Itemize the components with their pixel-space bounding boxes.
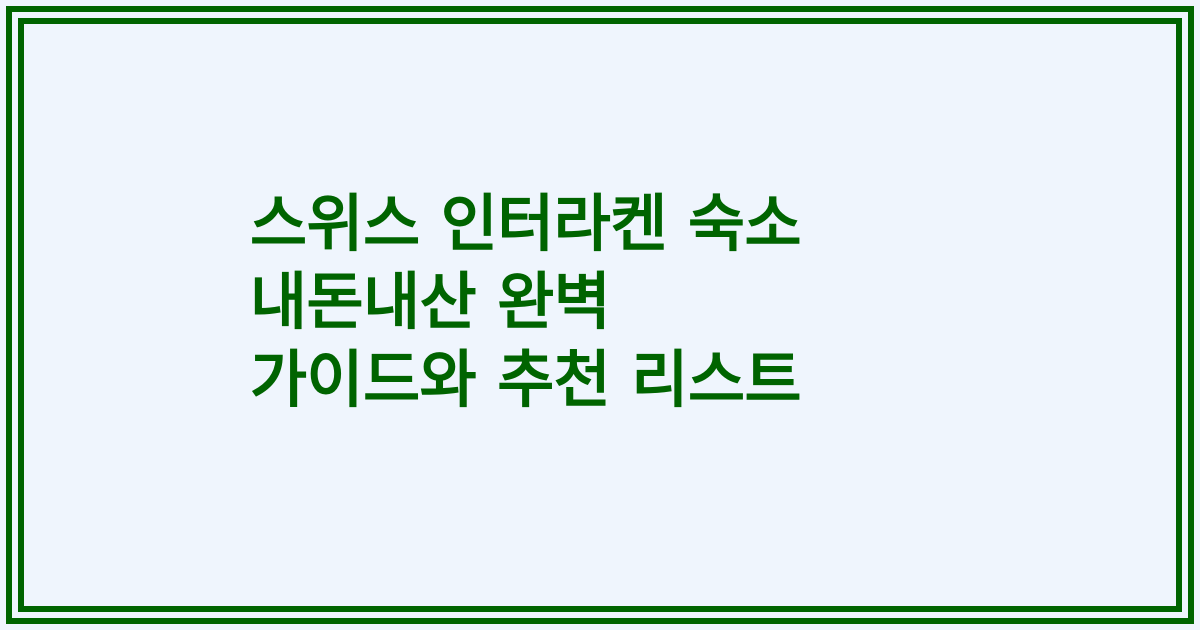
outer-border-frame: 스위스 인터라켄 숙소 내돈내산 완벽 가이드와 추천 리스트 (6, 6, 1194, 624)
page-title: 스위스 인터라켄 숙소 내돈내산 완벽 가이드와 추천 리스트 (24, 185, 1176, 445)
thumbnail-card: 스위스 인터라켄 숙소 내돈내산 완벽 가이드와 추천 리스트 (0, 0, 1200, 630)
title-line-2: 내돈내산 완벽 (250, 263, 1136, 341)
title-line-3: 가이드와 추천 리스트 (250, 341, 1136, 419)
inner-border-frame: 스위스 인터라켄 숙소 내돈내산 완벽 가이드와 추천 리스트 (18, 18, 1182, 612)
title-line-1: 스위스 인터라켄 숙소 (250, 185, 1136, 263)
